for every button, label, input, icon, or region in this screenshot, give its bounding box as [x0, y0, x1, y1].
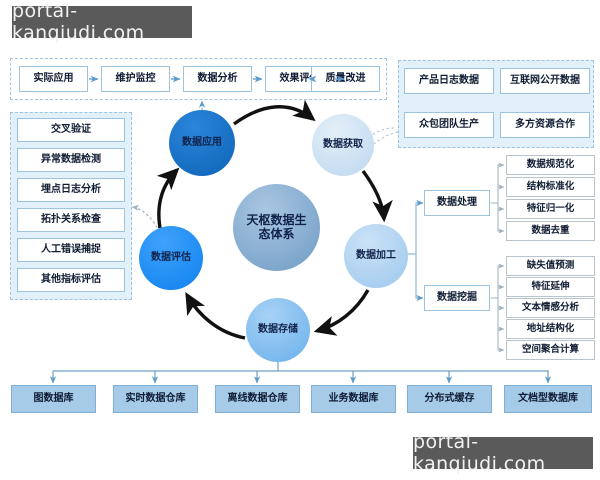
- cycle-node-acquire[interactable]: 数据获取: [312, 114, 374, 176]
- left-panel-item-0[interactable]: 交叉验证: [17, 118, 125, 142]
- storage-item-1[interactable]: 实时数据仓库: [113, 385, 198, 413]
- top-flow-item-1[interactable]: 维护监控: [101, 66, 170, 92]
- processing-leaf-3[interactable]: 数据去重: [506, 221, 595, 241]
- cycle-node-evaluate-label: 数据评估: [151, 252, 191, 264]
- source-item-3[interactable]: 多方资源合作: [500, 112, 590, 138]
- cycle-node-process-label: 数据加工: [356, 250, 396, 262]
- mining-leaf-2[interactable]: 文本情感分析: [506, 298, 595, 318]
- storage-item-2[interactable]: 离线数据仓库: [215, 385, 300, 413]
- source-item-1[interactable]: 互联网公开数据: [500, 68, 590, 94]
- left-panel-item-5[interactable]: 其他指标评估: [17, 268, 125, 292]
- cycle-node-center[interactable]: 天枢数据生态体系: [233, 184, 320, 271]
- processing-leaf-0[interactable]: 数据规范化: [506, 155, 595, 175]
- branch-label-data-mining[interactable]: 数据挖掘: [424, 285, 490, 311]
- storage-item-4[interactable]: 分布式缓存: [407, 385, 492, 413]
- cycle-node-apply-label: 数据应用: [182, 137, 222, 149]
- watermark-bottom: portal-kanqiudi.com: [413, 437, 593, 469]
- watermark-top: portal-kanqiudi.com: [12, 6, 192, 38]
- left-panel-item-3[interactable]: 拓扑关系检查: [17, 208, 125, 232]
- source-item-0[interactable]: 产品日志数据: [404, 68, 494, 94]
- mining-leaf-4[interactable]: 空间聚合计算: [506, 340, 595, 360]
- left-panel-item-4[interactable]: 人工错误捕捉: [17, 238, 125, 262]
- cycle-node-center-label: 天枢数据生态体系: [233, 214, 320, 242]
- cycle-node-storage[interactable]: 数据存储: [246, 298, 310, 362]
- mining-leaf-0[interactable]: 缺失值预测: [506, 256, 595, 276]
- branch-label-data-processing[interactable]: 数据处理: [424, 190, 490, 216]
- top-flow-item-0[interactable]: 实际应用: [19, 66, 88, 92]
- cycle-node-acquire-label: 数据获取: [323, 139, 363, 151]
- top-flow-item-4[interactable]: 质量改进: [311, 66, 380, 92]
- cycle-node-process[interactable]: 数据加工: [344, 224, 408, 288]
- mining-leaf-3[interactable]: 地址结构化: [506, 319, 595, 339]
- source-item-2[interactable]: 众包团队生产: [404, 112, 494, 138]
- left-panel-item-2[interactable]: 埋点日志分析: [17, 178, 125, 202]
- processing-leaf-1[interactable]: 结构标准化: [506, 177, 595, 197]
- storage-item-0[interactable]: 图数据库: [11, 385, 96, 413]
- storage-item-3[interactable]: 业务数据库: [311, 385, 396, 413]
- cycle-node-evaluate[interactable]: 数据评估: [139, 226, 203, 290]
- cycle-node-storage-label: 数据存储: [258, 324, 298, 336]
- mining-leaf-1[interactable]: 特征延伸: [506, 277, 595, 297]
- top-flow-item-2[interactable]: 数据分析: [183, 66, 252, 92]
- cycle-node-apply[interactable]: 数据应用: [169, 110, 235, 176]
- left-panel-item-1[interactable]: 异常数据检测: [17, 148, 125, 172]
- storage-item-5[interactable]: 文档型数据库: [504, 385, 592, 413]
- diagram-canvas: 实际应用 维护监控 数据分析 效果评估 质量改进 产品日志数据 互联网公开数据 …: [0, 0, 600, 480]
- processing-leaf-2[interactable]: 特征归一化: [506, 199, 595, 219]
